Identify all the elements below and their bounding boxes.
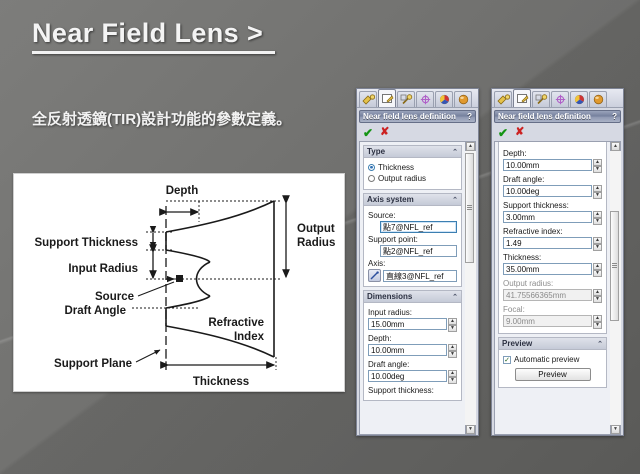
chevron-up-icon[interactable]: ⌃ [452, 293, 458, 301]
scroll-down-button[interactable]: ▼ [466, 425, 475, 434]
panel-title: Near field lens definition [498, 112, 610, 121]
group-type-title: Type [367, 147, 385, 156]
diagram-label-support-thickness: Support Thickness [34, 237, 138, 249]
spinner-output-radius: ▲▼ [593, 289, 602, 303]
group-dimensions-header[interactable]: Dimensions ⌃ [364, 291, 461, 303]
diagram-label-input-radius: Input Radius [68, 263, 138, 275]
label-support-thickness: Support thickness: [503, 201, 602, 210]
radio-output-radius-label: Output radius [378, 174, 426, 183]
checkbox-indicator: ✓ [503, 356, 511, 364]
panel-confirm-bar: ✔ ✘ [492, 123, 623, 140]
diagram-label-draft-angle: Draft Angle [64, 305, 126, 317]
label-thickness: Thickness: [503, 253, 602, 262]
scroll-thumb [610, 211, 619, 321]
label-support-thickness: Support thickness: [368, 386, 457, 395]
configuration-manager-tab-icon[interactable] [532, 91, 550, 107]
preview-button[interactable]: Preview [515, 368, 591, 381]
panel-scrollbar[interactable]: ▲ ▼ [610, 141, 621, 435]
help-icon[interactable]: ? [467, 112, 472, 121]
label-axis: Axis: [368, 259, 457, 268]
spinner-refractive-index[interactable]: ▲▼ [593, 237, 602, 251]
scroll-up-button[interactable]: ▲ [466, 142, 475, 151]
lens-diagram-svg: Depth Support Thickness Input Radius Sou… [14, 174, 346, 393]
input-focal: 9.00mm [503, 315, 592, 327]
appearance-tab-icon[interactable] [589, 91, 607, 107]
chevron-up-icon[interactable]: ⌃ [597, 340, 603, 348]
panel-scroll-area: Type ⌃ Thickness Output radius [359, 141, 465, 435]
panel-tab-bar [357, 89, 478, 108]
group-type-header[interactable]: Type ⌃ [364, 146, 461, 158]
label-refractive-index: Refractive index: [503, 227, 602, 236]
diagram-label-output-radius-2: Radius [297, 237, 335, 249]
panel-scrollbar[interactable]: ▲ ▼ [465, 141, 476, 435]
feature-manager-tab-icon[interactable] [359, 91, 377, 107]
input-input-radius[interactable]: 15.00mm [368, 318, 447, 330]
scroll-down-button[interactable]: ▼ [611, 425, 620, 434]
group-dimensions-continued: Depth: 10.00mm ▲▼ Draft angle: 10.00deg … [498, 142, 607, 334]
panel-scroll-area: Depth: 10.00mm ▲▼ Draft angle: 10.00deg … [494, 141, 610, 435]
configuration-manager-tab-icon[interactable] [397, 91, 415, 107]
panel-title: Near field lens definition [363, 112, 465, 121]
scroll-track[interactable] [465, 151, 476, 425]
checkbox-automatic-preview-label: Automatic preview [514, 355, 579, 364]
scroll-up-button[interactable]: ▲ [611, 142, 620, 151]
group-type: Type ⌃ Thickness Output radius [363, 145, 462, 190]
axis-selector-icon[interactable] [368, 269, 381, 282]
spinner-thickness[interactable]: ▲▼ [593, 263, 602, 277]
scroll-thumb [465, 153, 474, 263]
scroll-track[interactable] [610, 151, 621, 425]
spinner-draft-angle[interactable]: ▲▼ [448, 370, 457, 384]
page-title: Near Field Lens > [32, 18, 275, 49]
diagram-label-source: Source [95, 291, 134, 303]
radio-thickness-indicator [368, 164, 375, 171]
input-support-thickness[interactable]: 3.00mm [503, 211, 592, 223]
dimxpert-manager-tab-icon[interactable] [416, 91, 434, 107]
property-manager-tab-icon[interactable] [513, 89, 531, 107]
panel-body: Depth: 10.00mm ▲▼ Draft angle: 10.00deg … [494, 141, 621, 435]
feature-manager-tab-icon[interactable] [494, 91, 512, 107]
input-support-point[interactable]: 點2@NFL_ref [380, 245, 457, 257]
title-underline [32, 51, 275, 54]
radio-thickness-label: Thickness [378, 163, 414, 172]
group-preview-header[interactable]: Preview ⌃ [499, 338, 606, 350]
radio-output-radius[interactable]: Output radius [368, 174, 457, 183]
spinner-draft-angle[interactable]: ▲▼ [593, 185, 602, 199]
diagram-label-refractive-index-1: Refractive [208, 317, 264, 329]
cancel-x-icon[interactable]: ✘ [380, 127, 389, 138]
radio-thickness[interactable]: Thickness [368, 163, 457, 172]
spinner-support-thickness[interactable]: ▲▼ [593, 211, 602, 225]
group-preview: Preview ⌃ ✓ Automatic preview Preview [498, 337, 607, 388]
panel-body: Type ⌃ Thickness Output radius [359, 141, 476, 435]
group-preview-title: Preview [502, 339, 532, 348]
slide-subtitle: 全反射透鏡(TIR)設計功能的參數定義。 [32, 108, 291, 129]
group-dimensions: Dimensions ⌃ Input radius: 15.00mm ▲▼ De… [363, 290, 462, 401]
label-depth: Depth: [503, 149, 602, 158]
slide-title-block: Near Field Lens > [32, 18, 275, 54]
ok-check-icon[interactable]: ✔ [498, 127, 508, 139]
input-output-radius: 41.75566365mm [503, 289, 592, 301]
appearance-tab-icon[interactable] [454, 91, 472, 107]
spinner-focal: ▲▼ [593, 315, 602, 329]
input-refractive-index[interactable]: 1.49 [503, 237, 592, 249]
input-axis[interactable]: 直線3@NFL_ref [383, 270, 457, 282]
group-axis-system: Axis system ⌃ Source: 點7@NFL_ref Support… [363, 193, 462, 287]
label-source: Source: [368, 211, 457, 220]
help-icon[interactable]: ? [612, 112, 617, 121]
input-depth[interactable]: 10.00mm [503, 159, 592, 171]
property-manager-panel-left: Near field lens definition ? ✔ ✘ Type ⌃ … [356, 88, 479, 436]
cancel-x-icon[interactable]: ✘ [515, 127, 524, 138]
spinner-depth[interactable]: ▲▼ [593, 159, 602, 173]
ok-check-icon[interactable]: ✔ [363, 127, 373, 139]
label-depth: Depth: [368, 334, 457, 343]
label-input-radius: Input radius: [368, 308, 457, 317]
spinner-depth[interactable]: ▲▼ [448, 344, 457, 358]
input-draft-angle[interactable]: 10.00deg [503, 185, 592, 197]
label-support-point: Support point: [368, 235, 457, 244]
diagram-label-refractive-index-2: Index [234, 331, 265, 343]
label-draft-angle: Draft angle: [503, 175, 602, 184]
panel-tab-bar [492, 89, 623, 108]
group-axis-system-title: Axis system [367, 195, 414, 204]
group-axis-system-header[interactable]: Axis system ⌃ [364, 194, 461, 206]
diagram-label-support-plane: Support Plane [54, 358, 132, 370]
display-manager-tab-icon[interactable] [435, 91, 453, 107]
dimxpert-manager-tab-icon[interactable] [551, 91, 569, 107]
panel-title-bar: Near field lens definition ? [494, 110, 621, 123]
input-depth[interactable]: 10.00mm [368, 344, 447, 356]
chevron-up-icon[interactable]: ⌃ [452, 196, 458, 204]
input-draft-angle[interactable]: 10.00deg [368, 370, 447, 382]
input-source[interactable]: 點7@NFL_ref [380, 221, 457, 233]
input-thickness[interactable]: 35.00mm [503, 263, 592, 275]
label-output-radius: Output radius: [503, 279, 602, 288]
lens-parameter-diagram: Depth Support Thickness Input Radius Sou… [13, 173, 345, 392]
spinner-input-radius[interactable]: ▲▼ [448, 318, 457, 332]
label-draft-angle: Draft angle: [368, 360, 457, 369]
display-manager-tab-icon[interactable] [570, 91, 588, 107]
group-dimensions-title: Dimensions [367, 292, 412, 301]
property-manager-panel-right: Near field lens definition ? ✔ ✘ Depth: … [491, 88, 624, 436]
diagram-label-output-radius-1: Output [297, 223, 335, 235]
panel-title-bar: Near field lens definition ? [359, 110, 476, 123]
checkbox-automatic-preview[interactable]: ✓ Automatic preview [503, 355, 602, 364]
chevron-up-icon[interactable]: ⌃ [452, 148, 458, 156]
panel-confirm-bar: ✔ ✘ [357, 123, 478, 140]
diagram-label-thickness: Thickness [193, 376, 249, 388]
property-manager-tab-icon[interactable] [378, 89, 396, 107]
label-focal: Focal: [503, 305, 602, 314]
radio-output-radius-indicator [368, 175, 375, 182]
diagram-label-depth: Depth [166, 185, 199, 197]
